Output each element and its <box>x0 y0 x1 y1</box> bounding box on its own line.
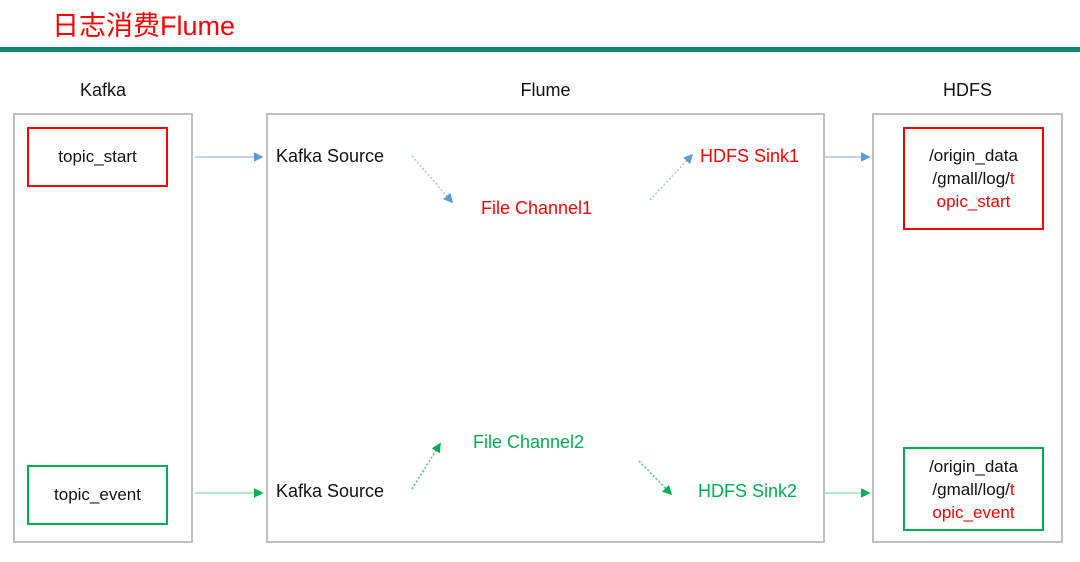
hdfs-path-start-line2-red: t <box>1010 169 1015 188</box>
title-divider <box>0 47 1080 52</box>
hdfs-path-event-line2-black: /gmall/log/ <box>932 480 1009 499</box>
hdfs-path-start-line2-black: /gmall/log/ <box>932 169 1009 188</box>
flume-kafka-source-1-label: Kafka Source <box>276 146 384 167</box>
flume-file-channel-2-label: File Channel2 <box>473 432 584 453</box>
column-caption-hdfs: HDFS <box>872 80 1063 101</box>
hdfs-path-start-line3: opic_start <box>937 190 1011 213</box>
flume-hdfs-sink-2-label: HDFS Sink2 <box>698 481 797 502</box>
flume-kafka-source-2-label: Kafka Source <box>276 481 384 502</box>
hdfs-path-event-line1: /origin_data <box>929 455 1018 478</box>
flume-hdfs-sink-1-label: HDFS Sink1 <box>700 146 799 167</box>
hdfs-path-event-line2-red: t <box>1010 480 1015 499</box>
column-caption-flume: Flume <box>266 80 825 101</box>
column-caption-kafka: Kafka <box>13 80 193 101</box>
hdfs-path-event-line2: /gmall/log/t <box>932 478 1014 501</box>
topic-start-label: topic_start <box>58 147 136 167</box>
topic-event-box: topic_event <box>27 465 168 525</box>
hdfs-path-start-line2: /gmall/log/t <box>932 167 1014 190</box>
topic-event-label: topic_event <box>54 485 141 505</box>
hdfs-path-event-line3: opic_event <box>932 501 1014 524</box>
hdfs-path-start-box: /origin_data /gmall/log/t opic_start <box>903 127 1044 230</box>
hdfs-path-event-box: /origin_data /gmall/log/t opic_event <box>903 447 1044 531</box>
topic-start-box: topic_start <box>27 127 168 187</box>
flume-container <box>266 113 825 543</box>
page-title: 日志消费Flume <box>52 4 235 43</box>
flume-file-channel-1-label: File Channel1 <box>481 198 592 219</box>
hdfs-path-start-line1: /origin_data <box>929 144 1018 167</box>
